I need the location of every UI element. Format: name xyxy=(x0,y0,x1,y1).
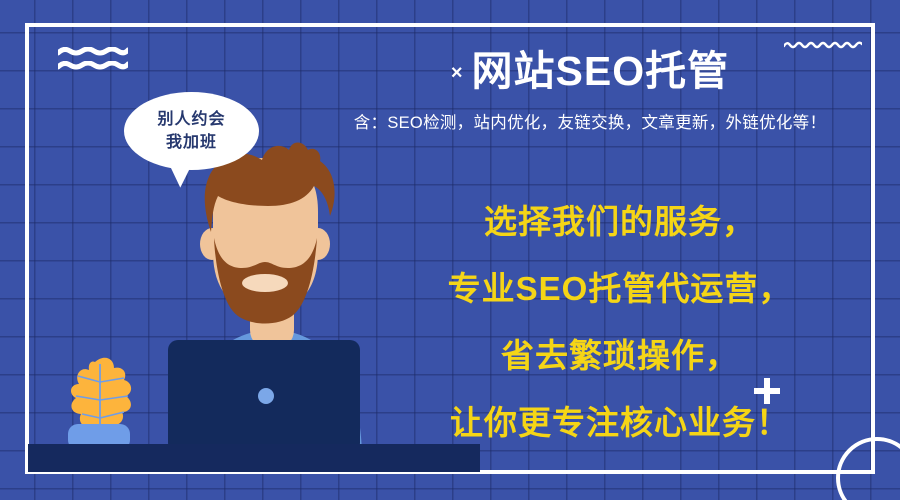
slogan-block: 选择我们的服务， 专业SEO托管代运营， 省去繁琐操作， 让你更专注核心业务！ xyxy=(395,188,845,456)
slogan-line-3: 省去繁琐操作， xyxy=(395,322,845,389)
speech-bubble-line-1: 别人约会 xyxy=(157,108,225,131)
speech-bubble-line-2: 我加班 xyxy=(166,131,217,154)
slogan-line-2: 专业SEO托管代运营， xyxy=(395,255,845,322)
slogan-line-1: 选择我们的服务， xyxy=(395,188,845,255)
seo-hosting-banner: ×网站SEO托管 含：SEO检测，站内优化，友链交换，文章更新，外链优化等！ 选… xyxy=(0,0,900,500)
plant-leaves-shape xyxy=(71,358,131,432)
mouth-shape xyxy=(242,274,288,292)
speech-bubble: 别人约会 我加班 xyxy=(124,92,259,170)
slogan-line-4: 让你更专注核心业务！ xyxy=(395,389,845,456)
plant-illustration xyxy=(48,348,152,450)
laptop-logo-icon xyxy=(258,388,274,404)
laptop xyxy=(168,340,360,453)
